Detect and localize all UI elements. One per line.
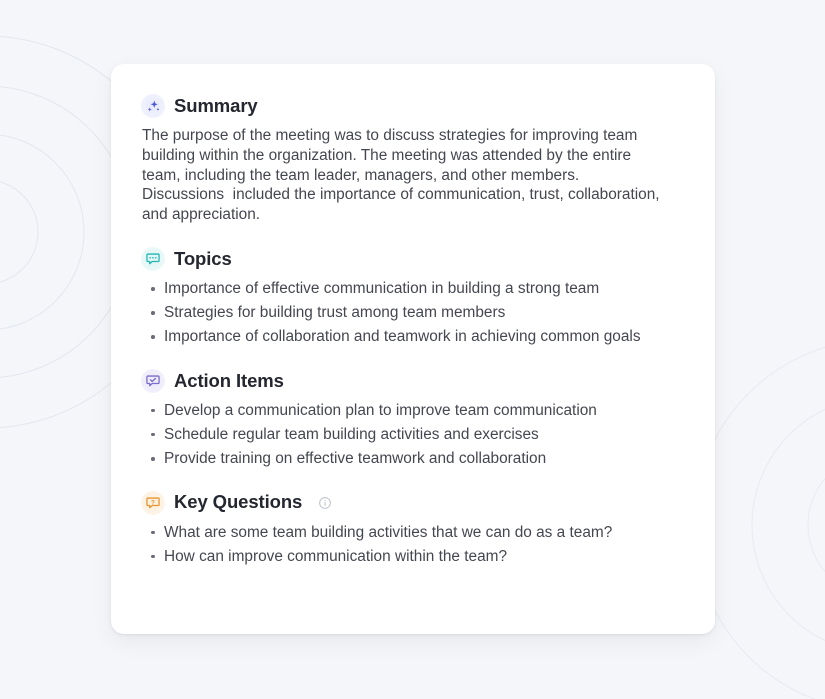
list-item: Schedule regular team building activitie… <box>164 425 674 445</box>
sparkle-icon <box>141 94 165 118</box>
list-item: Develop a communication plan to improve … <box>164 401 674 421</box>
chat-bubble-check-icon <box>141 369 165 393</box>
section-action-items: Action Items Develop a communication pla… <box>141 369 683 469</box>
list-item: How can improve communication within the… <box>164 547 674 567</box>
key-questions-list: What are some team building activities t… <box>141 523 683 567</box>
summary-paragraph: The purpose of the meeting was to discus… <box>141 126 663 225</box>
decor-circle-right-2 <box>752 397 825 653</box>
list-item: What are some team building activities t… <box>164 523 674 543</box>
list-item: Provide training on effective teamwork a… <box>164 449 674 469</box>
section-summary: Summary The purpose of the meeting was t… <box>141 94 683 225</box>
chat-bubble-question-icon: ? <box>141 491 165 515</box>
list-item: Importance of effective communication in… <box>164 279 674 299</box>
info-circle-icon[interactable] <box>318 496 332 510</box>
action-items-list: Develop a communication plan to improve … <box>141 401 683 469</box>
section-header-action-items: Action Items <box>141 369 683 393</box>
section-header-key-questions: ? Key Questions <box>141 491 683 515</box>
section-title-action-items: Action Items <box>174 370 284 392</box>
topics-list: Importance of effective communication in… <box>141 279 683 347</box>
chat-bubble-dots-icon <box>141 247 165 271</box>
section-title-topics: Topics <box>174 248 232 270</box>
section-key-questions: ? Key Questions What are some team build… <box>141 491 683 567</box>
meeting-summary-card: Summary The purpose of the meeting was t… <box>111 64 715 634</box>
decor-circle-right-1 <box>808 453 825 597</box>
section-title-key-questions: Key Questions <box>174 491 302 513</box>
section-header-topics: Topics <box>141 247 683 271</box>
list-item: Strategies for building trust among team… <box>164 303 674 323</box>
decor-circle-left-1 <box>0 180 38 284</box>
section-header-summary: Summary <box>141 94 683 118</box>
decor-circle-left-2 <box>0 134 84 330</box>
section-title-summary: Summary <box>174 95 258 117</box>
svg-text:?: ? <box>151 499 155 506</box>
list-item: Importance of collaboration and teamwork… <box>164 327 674 347</box>
section-topics: Topics Importance of effective communica… <box>141 247 683 347</box>
